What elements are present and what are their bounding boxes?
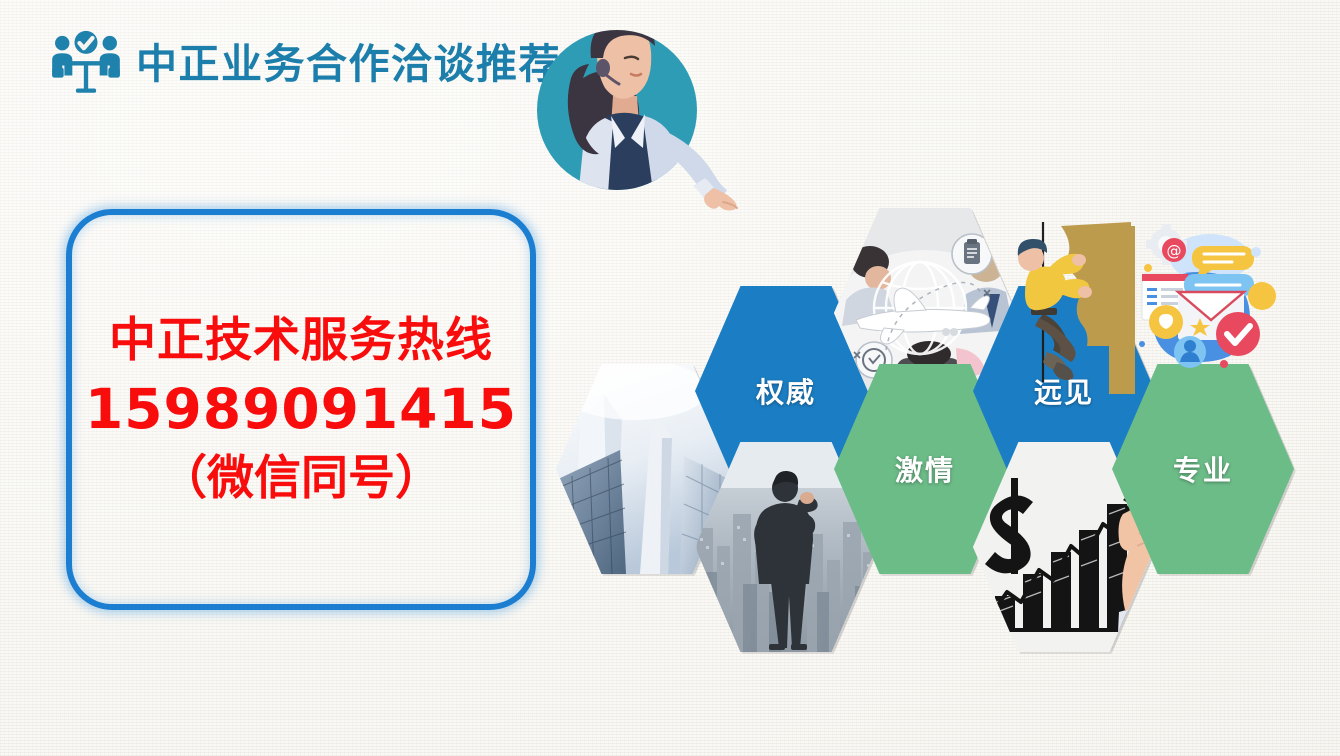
email-communication-illustration: @ — [1128, 222, 1288, 382]
hotline-card: 中正技术服务热线 15989091415 （微信同号） — [66, 209, 536, 610]
hotline-wechat-note: （微信同号） — [160, 451, 442, 506]
team-approval-icon — [50, 28, 122, 100]
svg-text:@: @ — [1167, 242, 1182, 260]
slide-canvas: 中正业务合作洽谈推荐 — [0, 0, 1340, 756]
rock-climber-illustration — [1003, 222, 1135, 397]
hex-label-authority: 权威 — [756, 371, 816, 411]
hotline-phone-number[interactable]: 15989091415 — [85, 377, 517, 442]
page-title: 中正业务合作洽谈推荐 — [136, 44, 561, 85]
customer-service-agent-illustration — [527, 12, 742, 217]
hex-label-passion: 激情 — [895, 449, 955, 489]
hotline-heading: 中正技术服务热线 — [109, 313, 493, 368]
header-bar: 中正业务合作洽谈推荐 — [50, 28, 561, 100]
hex-label-professional: 专业 — [1173, 449, 1233, 489]
